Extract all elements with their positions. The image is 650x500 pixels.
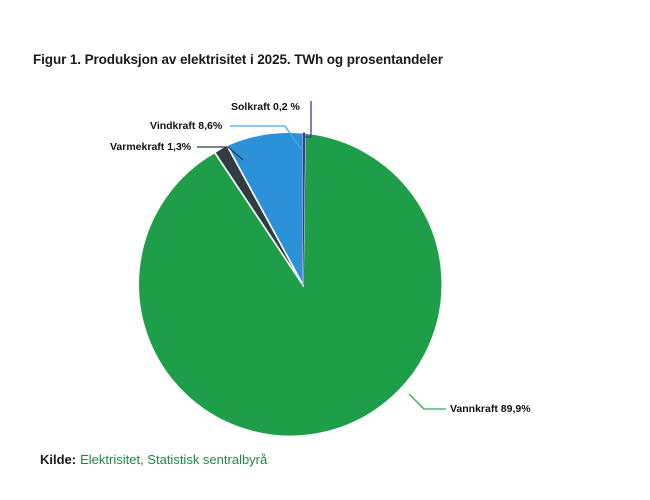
leader-line-solkraft xyxy=(304,101,311,137)
slice-label-vannkraft: Vannkraft 89,9% xyxy=(450,403,531,415)
slice-label-varmekraft: Varmekraft 1,3% xyxy=(110,141,191,153)
slice-label-vindkraft: Vindkraft 8,6% xyxy=(150,120,222,132)
source-line: Kilde:Elektrisitet, Statistisk sentralby… xyxy=(40,452,267,467)
figure-container: Figur 1. Produksjon av elektrisitet i 20… xyxy=(0,0,650,500)
slice-label-solkraft: Solkraft 0,2 % xyxy=(231,101,300,113)
source-label: Kilde: xyxy=(40,452,76,467)
pie-chart xyxy=(0,0,650,500)
source-link[interactable]: Elektrisitet, Statistisk sentralbyrå xyxy=(80,452,267,467)
leader-line-vannkraft xyxy=(409,394,446,409)
